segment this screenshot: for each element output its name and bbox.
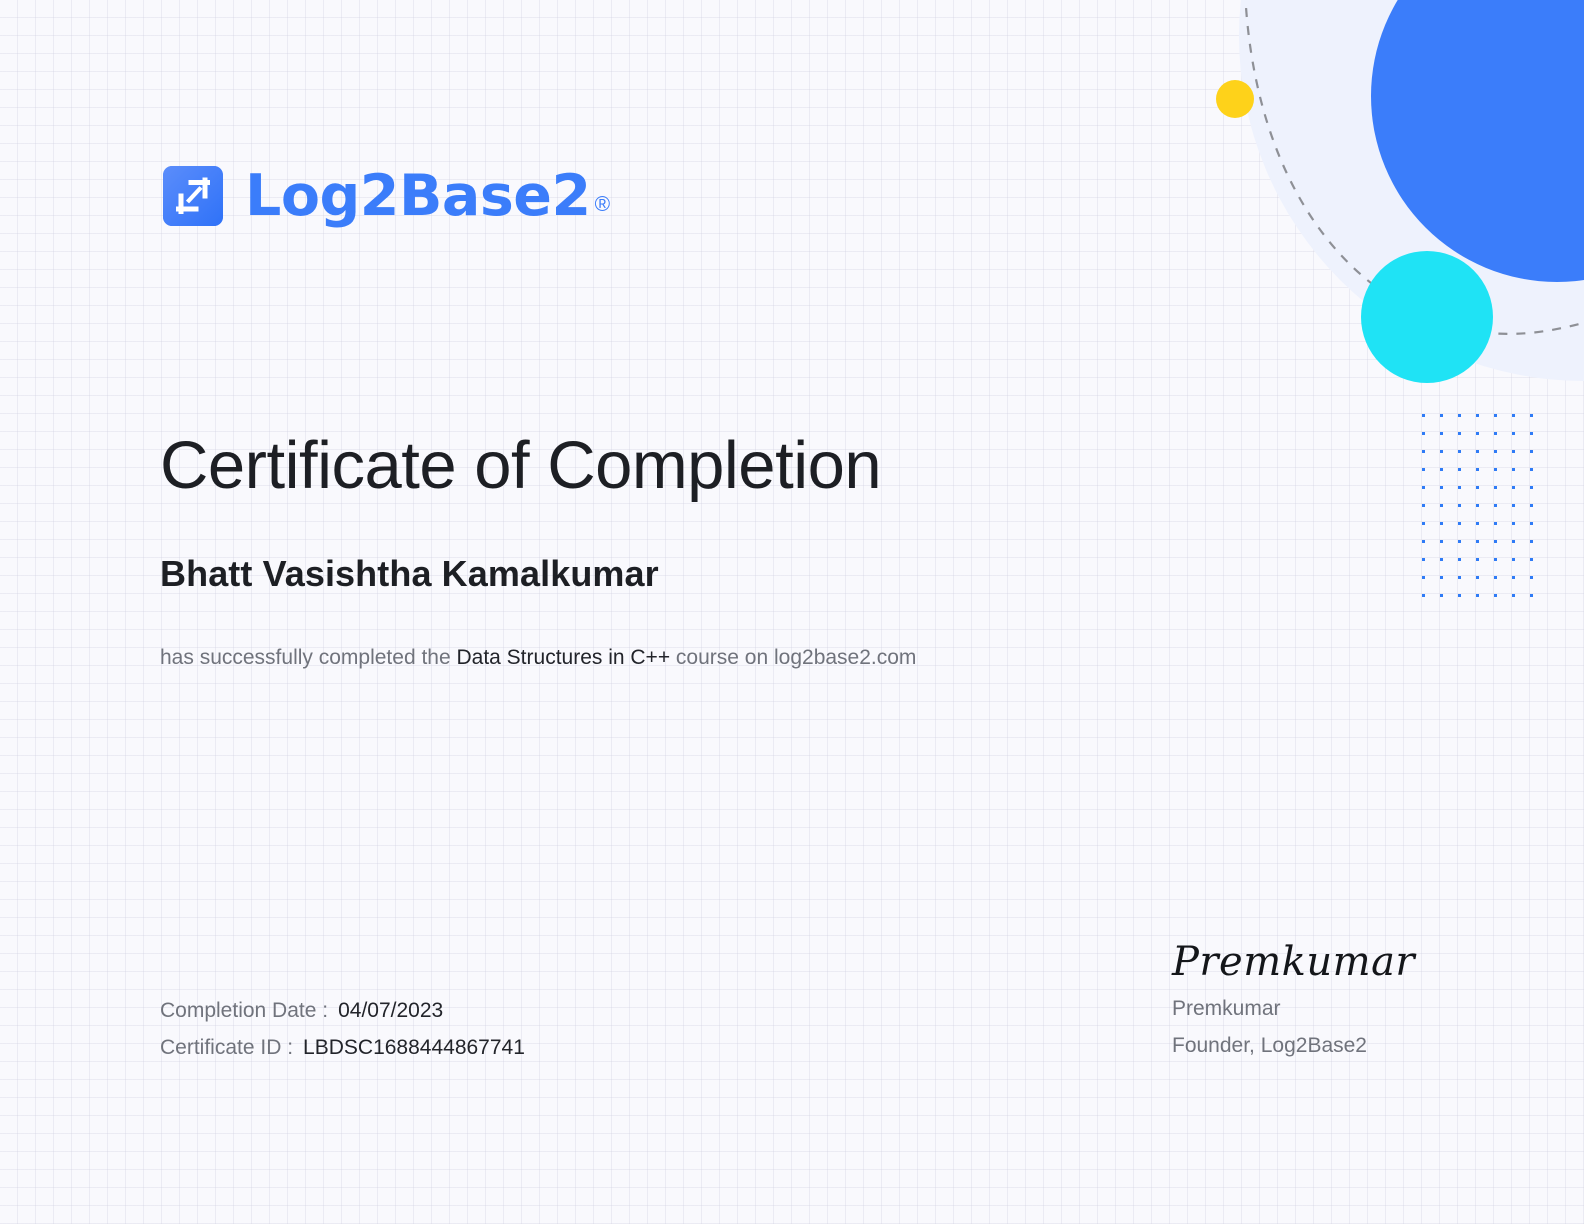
completion-statement: has successfully completed the Data Stru… bbox=[160, 641, 920, 675]
completion-date-value: 04/07/2023 bbox=[338, 999, 443, 1022]
brand-wordmark: Log2Base2® bbox=[245, 168, 610, 225]
pale-backdrop-circle bbox=[1239, 0, 1584, 381]
brand-wordmark-text: Log2Base2 bbox=[245, 163, 591, 229]
certificate-id-label: Certificate ID : bbox=[160, 1036, 293, 1059]
cyan-circle bbox=[1361, 251, 1493, 383]
completion-date-row: Completion Date :04/07/2023 bbox=[160, 992, 525, 1029]
completion-date-label: Completion Date : bbox=[160, 999, 328, 1022]
expand-arrow-icon bbox=[163, 166, 223, 226]
page-title: Certificate of Completion bbox=[160, 428, 881, 503]
certificate-meta: Completion Date :04/07/2023 Certificate … bbox=[160, 992, 525, 1066]
dot-grid bbox=[1422, 414, 1533, 597]
signatory-role: Founder, Log2Base2 bbox=[1172, 1027, 1415, 1064]
signature-image: Premkumar bbox=[1172, 940, 1415, 984]
signature-block: Premkumar Premkumar Founder, Log2Base2 bbox=[1172, 940, 1415, 1064]
signatory-name: Premkumar bbox=[1172, 990, 1415, 1027]
statement-suffix: course on log2base2.com bbox=[670, 646, 916, 669]
brand-logo[interactable]: Log2Base2® bbox=[163, 166, 610, 226]
certificate-canvas: Log2Base2® Certificate of Completion Bha… bbox=[0, 0, 1584, 1224]
recipient-name: Bhatt Vasishtha Kamalkumar bbox=[160, 552, 659, 595]
certificate-id-value: LBDSC1688444867741 bbox=[303, 1036, 525, 1059]
registered-mark-icon: ® bbox=[595, 193, 610, 216]
statement-prefix: has successfully completed the bbox=[160, 646, 456, 669]
course-name: Data Structures in C++ bbox=[456, 646, 670, 669]
dashed-arc bbox=[1245, 0, 1584, 334]
certificate-id-row: Certificate ID :LBDSC1688444867741 bbox=[160, 1029, 525, 1066]
yellow-dot bbox=[1216, 80, 1254, 118]
big-blue-circle bbox=[1371, 0, 1584, 282]
